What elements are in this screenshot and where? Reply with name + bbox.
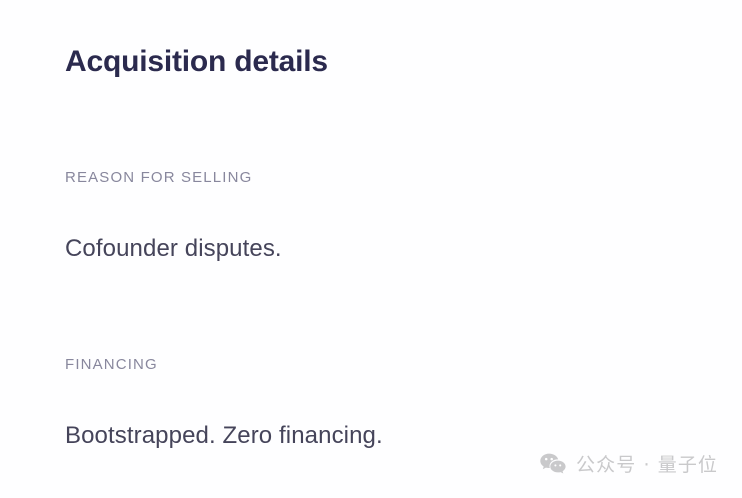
page-title: Acquisition details <box>65 43 328 81</box>
field-value-reason-for-selling: Cofounder disputes. <box>65 188 705 264</box>
watermark-text: 公众号 · 量子位 <box>576 453 718 477</box>
field-label-financing: FINANCING <box>65 355 705 375</box>
field-value-financing: Bootstrapped. Zero financing. <box>65 375 705 451</box>
field-financing: FINANCING Bootstrapped. Zero financing. <box>65 355 705 451</box>
field-label-reason-for-selling: REASON FOR SELLING <box>65 168 705 188</box>
wechat-icon <box>540 453 567 477</box>
field-reason-for-selling: REASON FOR SELLING Cofounder disputes. <box>65 168 705 264</box>
watermark: 公众号 · 量子位 <box>540 453 718 477</box>
acquisition-details-page: Acquisition details REASON FOR SELLING C… <box>0 0 742 498</box>
